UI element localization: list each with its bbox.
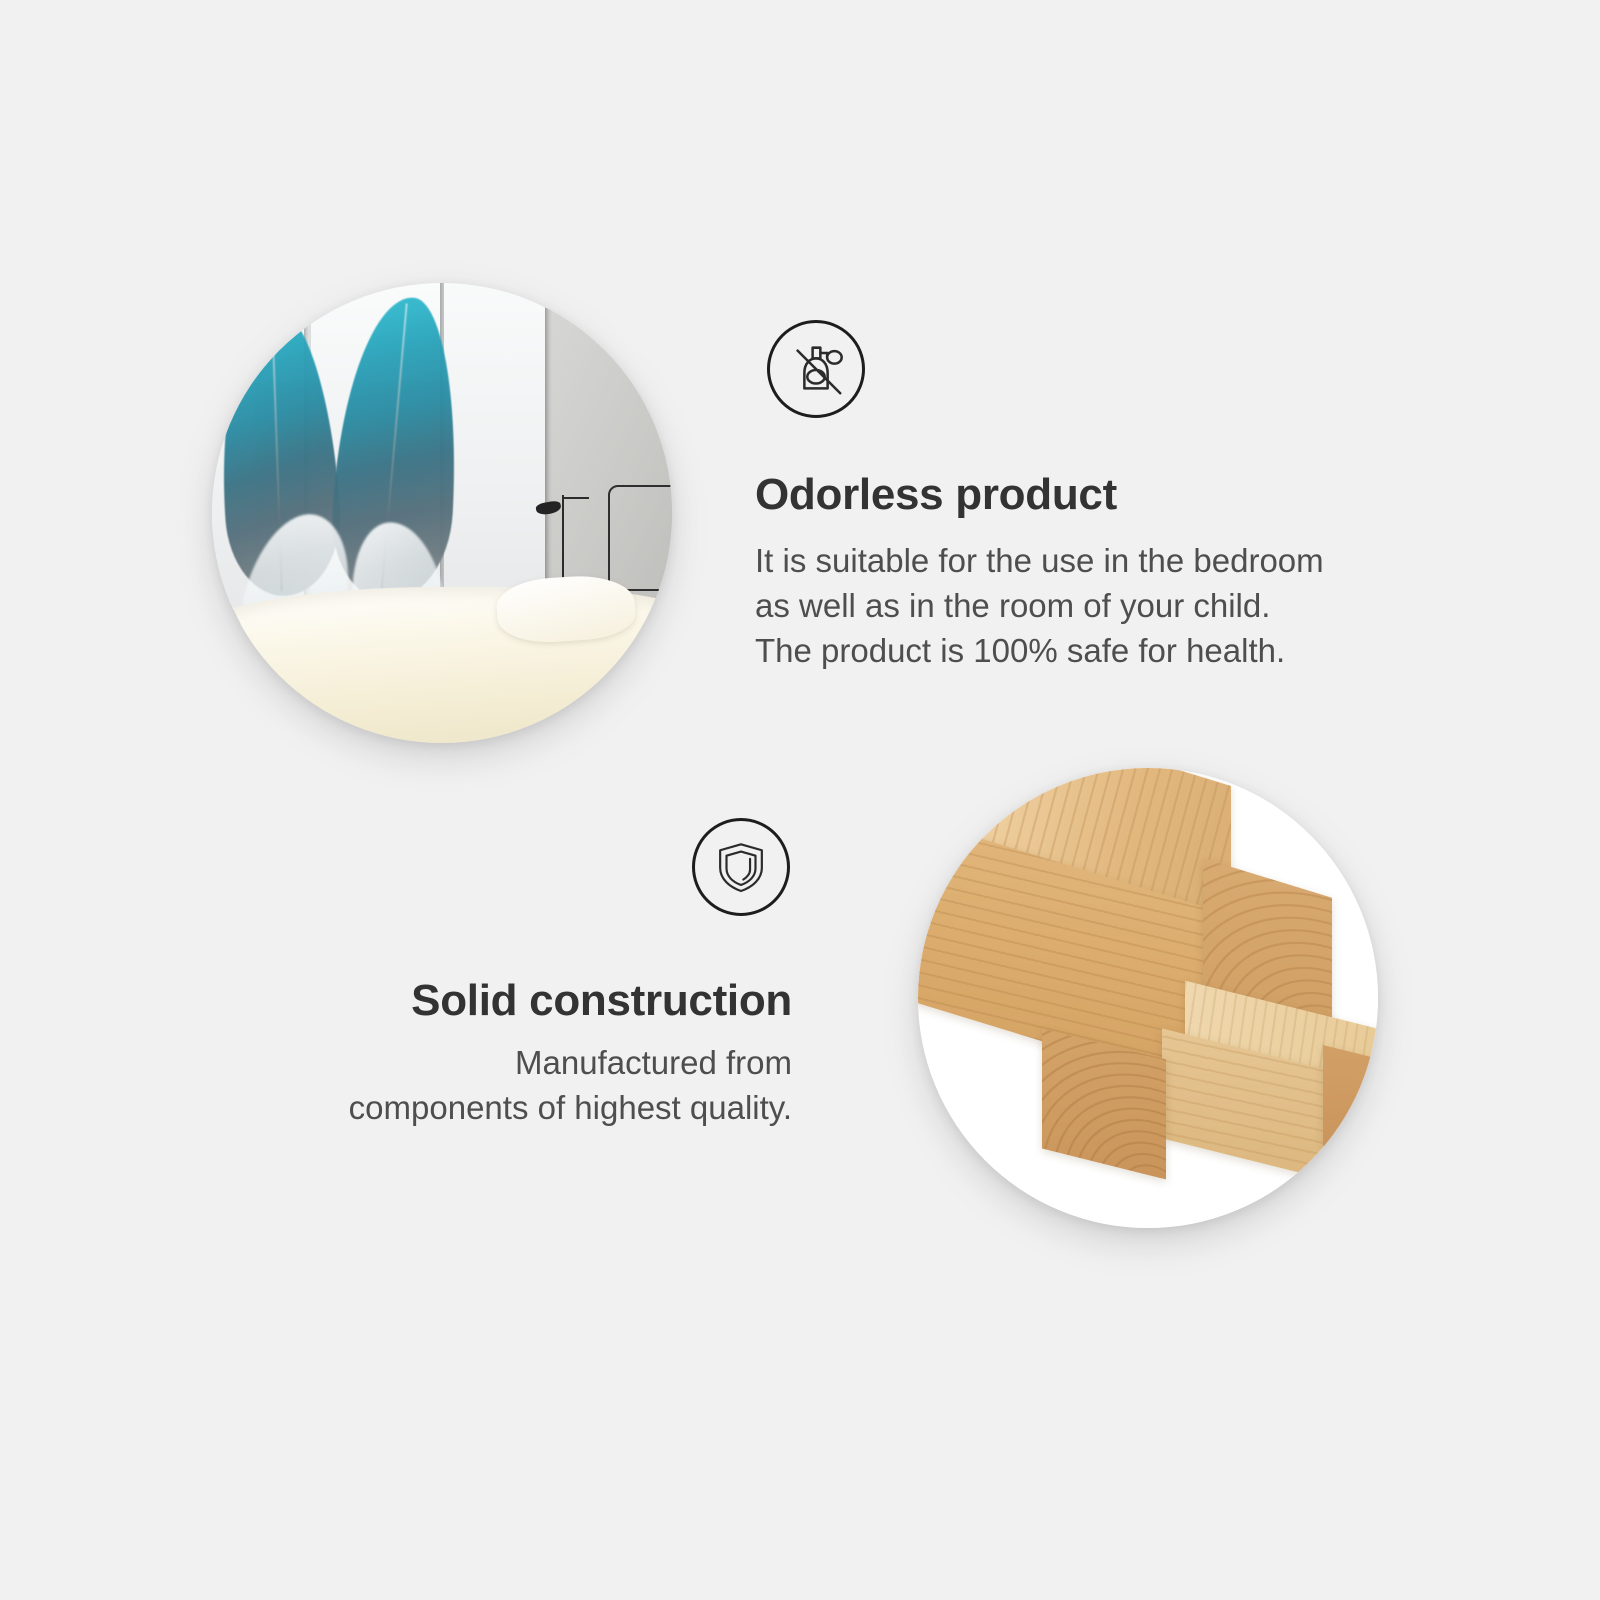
infographic-canvas: Odorless product It is suitable for the …	[0, 0, 1600, 1600]
feature-body: Manufactured from components of highest …	[200, 1040, 792, 1130]
headboard	[608, 485, 672, 590]
wooden-beams-photo	[918, 768, 1378, 1228]
beam-right-end-grain	[1323, 1045, 1378, 1162]
shield-icon	[692, 818, 790, 916]
feature-body: It is suitable for the use in the bedroo…	[755, 538, 1435, 674]
feature-body-line: as well as in the room of your child.	[755, 583, 1435, 628]
bedroom-scene	[212, 283, 672, 743]
feature-title: Odorless product	[755, 470, 1435, 520]
lamp-arm	[562, 497, 590, 499]
feature-body-line: The product is 100% safe for health.	[755, 628, 1435, 673]
feature-body-line: Manufactured from	[200, 1040, 792, 1085]
feature-solid-construction: Solid construction Manufactured from com…	[200, 818, 792, 1130]
wood-scene	[918, 768, 1378, 1228]
feature-body-line: components of highest quality.	[200, 1085, 792, 1130]
no-perfume-icon	[767, 320, 865, 418]
feature-title: Solid construction	[200, 976, 792, 1026]
feature-body-line: It is suitable for the use in the bedroo…	[755, 538, 1435, 583]
feature-odorless-product: Odorless product It is suitable for the …	[755, 320, 1435, 674]
bedroom-photo	[212, 283, 672, 743]
